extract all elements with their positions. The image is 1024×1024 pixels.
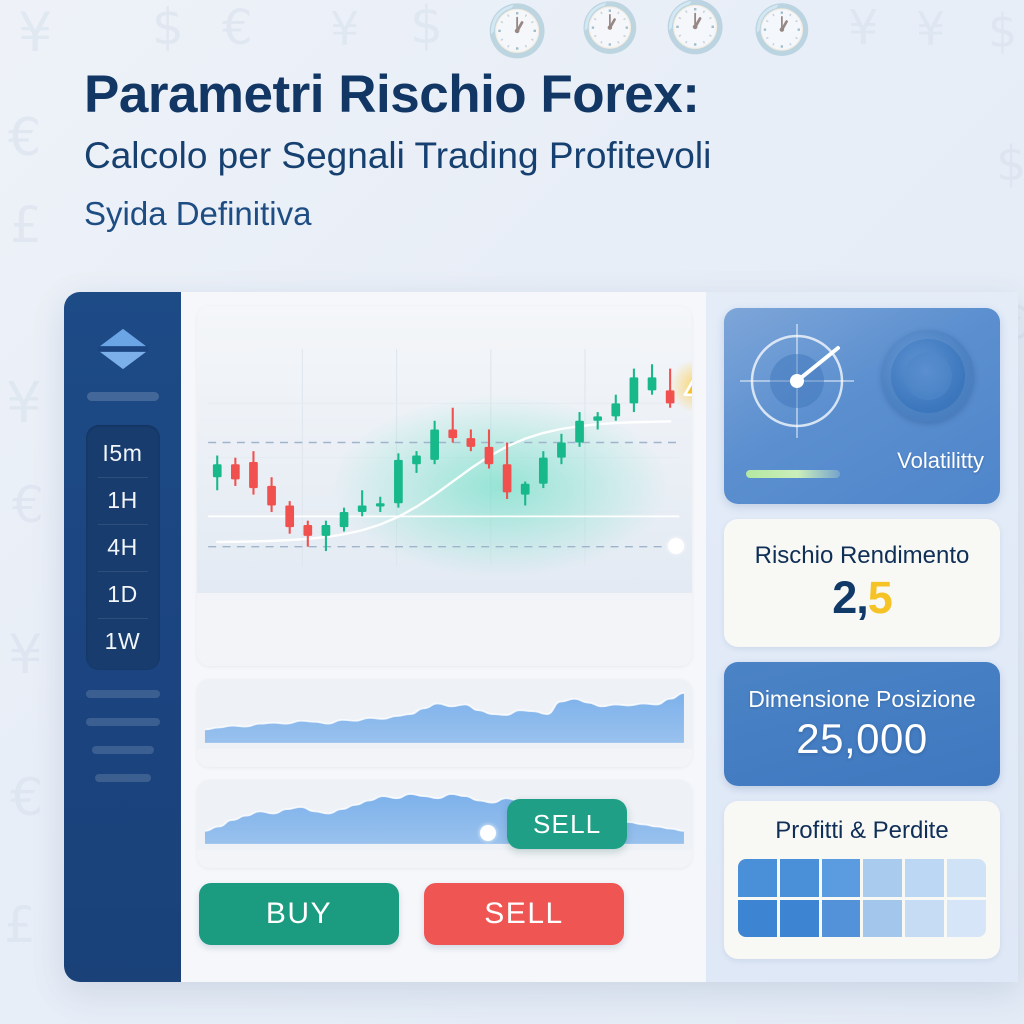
watermark-glyph: £ [10, 200, 42, 250]
sell-button[interactable]: SELL [424, 883, 624, 945]
profit-loss-heatmap[interactable] [738, 859, 986, 937]
timeframe-label: 4H [107, 534, 138, 561]
watermark-glyph: $ [996, 140, 1024, 188]
heatmap-cell[interactable] [947, 900, 986, 938]
watermark-glyph: € [8, 112, 41, 164]
trading-app-window: I5m 1H 4H 1D 1W BUY [64, 292, 1018, 982]
gauge-dial-icon [738, 322, 856, 440]
heatmap-cell[interactable] [863, 859, 902, 897]
watermark-glyph: € [10, 772, 43, 824]
watermark-glyph: ¥ [916, 6, 945, 52]
chart-column: BUY SELL BUY SELL [181, 292, 706, 982]
position-size-card[interactable]: Dimensione Posizione 25,000 [724, 662, 1000, 786]
position-size-title: Dimensione Posizione [748, 686, 976, 713]
watermark-glyph: 🕐 [752, 6, 812, 54]
heatmap-cell[interactable] [780, 859, 819, 897]
watermark-glyph: $ [152, 2, 184, 52]
timeframe-item-1d[interactable]: 1D [86, 571, 160, 618]
candlestick-chart [197, 306, 692, 593]
position-size-value: 25,000 [796, 715, 927, 763]
risk-reward-value: 2,5 [832, 572, 892, 624]
watermark-glyph: ¥ [848, 4, 879, 52]
profit-loss-title: Profitti & Perdite [775, 817, 948, 845]
risk-reward-title: Rischio Rendimento [755, 542, 970, 570]
watermark-glyph: £ [4, 900, 36, 950]
profit-loss-card[interactable]: Profitti & Perdite [724, 801, 1000, 959]
page-subtitle: Calcolo per Segnali Trading Profitevoli [84, 133, 984, 179]
candlestick-chart-panel[interactable]: BUY [197, 306, 692, 666]
timeframe-label: 1D [107, 581, 138, 608]
volatility-label: Volatilitty [897, 448, 984, 474]
watermark-glyph: € [12, 480, 44, 530]
momentum-area-panel[interactable]: SELL [197, 780, 692, 868]
page-headline: Parametri Rischio Forex: Calcolo per Seg… [84, 66, 984, 235]
watermark-glyph: 🕐 [664, 2, 726, 52]
sidebar-placeholder-bar [92, 746, 154, 754]
watermark-glyph: € [222, 4, 253, 52]
sell-signal-label: SELL [533, 809, 601, 840]
risk-reward-value-int: 2, [832, 572, 868, 623]
watermark-glyph: ¥ [18, 6, 52, 60]
heatmap-cell[interactable] [947, 859, 986, 897]
timeframe-item-4h[interactable]: 4H [86, 524, 160, 571]
timeframe-label: 1H [107, 487, 138, 514]
volatility-level-bar [746, 470, 840, 478]
sidebar: I5m 1H 4H 1D 1W [64, 292, 181, 982]
watermark-glyph: 🕐 [486, 6, 548, 56]
sidebar-placeholder-bar [86, 718, 160, 726]
timeframe-selector: I5m 1H 4H 1D 1W [86, 425, 160, 670]
volatility-card[interactable]: Volatilitty [724, 308, 1000, 504]
sell-signal-pill[interactable]: SELL [507, 799, 627, 849]
sidebar-menu-placeholders [86, 690, 160, 782]
buy-signal-dot [668, 538, 684, 554]
trade-action-bar: BUY SELL [197, 883, 692, 945]
sell-signal-dot [480, 825, 496, 841]
watermark-glyph: 🕐 [580, 4, 640, 52]
timeframe-item-15m[interactable]: I5m [86, 430, 160, 477]
buy-button[interactable]: BUY [199, 883, 399, 945]
heatmap-cell[interactable] [822, 859, 861, 897]
diamond-updown-icon[interactable] [94, 326, 152, 372]
watermark-glyph: $ [410, 0, 443, 52]
page-tagline: Syida Definitiva [84, 193, 984, 234]
heatmap-cell[interactable] [738, 900, 777, 938]
volume-area-chart [197, 679, 692, 749]
watermark-glyph: ¥ [6, 376, 42, 432]
candle [394, 453, 403, 507]
metrics-panel: Volatilitty Rischio Rendimento 2,5 Dimen… [706, 292, 1018, 982]
heatmap-cell[interactable] [905, 900, 944, 938]
sidebar-placeholder-bar [86, 690, 160, 698]
timeframe-label: I5m [102, 440, 142, 467]
heatmap-cell[interactable] [738, 859, 777, 897]
heatmap-cell[interactable] [863, 900, 902, 938]
watermark-glyph: ¥ [8, 628, 42, 682]
heatmap-cell[interactable] [780, 900, 819, 938]
timeframe-item-1w[interactable]: 1W [86, 618, 160, 665]
timeframe-label: 1W [105, 628, 141, 655]
risk-reward-value-frac: 5 [868, 572, 892, 623]
volume-area-panel[interactable] [197, 679, 692, 767]
watermark-glyph: $ [988, 8, 1017, 54]
risk-reward-card[interactable]: Rischio Rendimento 2,5 [724, 519, 1000, 647]
heatmap-cell[interactable] [822, 900, 861, 938]
heatmap-cell[interactable] [905, 859, 944, 897]
timeframe-item-1h[interactable]: 1H [86, 477, 160, 524]
watermark-glyph: ¥ [330, 6, 359, 52]
sidebar-handle[interactable] [87, 392, 159, 401]
page-title: Parametri Rischio Forex: [84, 66, 984, 123]
knob-icon[interactable] [882, 330, 974, 422]
sidebar-placeholder-bar [95, 774, 151, 782]
